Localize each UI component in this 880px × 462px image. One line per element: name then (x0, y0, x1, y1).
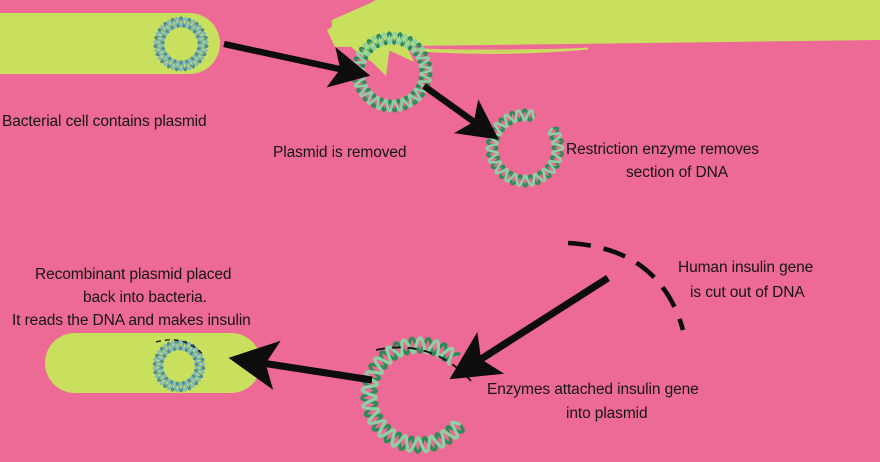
label-bacterial-cell: Bacterial cell contains plasmid (2, 113, 207, 132)
label-plasmid-removed: Plasmid is removed (273, 144, 406, 163)
label-recombinant-line1: Recombinant plasmid placed (35, 266, 231, 285)
arrow-recombinant-to-bacteria (262, 363, 372, 380)
label-restriction-enzyme-line1: Restriction enzyme removes (566, 141, 759, 160)
arrow-plasmid-to-cut-plasmid (424, 86, 477, 124)
arrow-cell-to-plasmid (224, 44, 344, 70)
label-recombinant-line3: It reads the DNA and makes insulin (12, 312, 251, 331)
arrow-gene-into-plasmid (478, 278, 608, 361)
label-enzymes-attached-line2: into plasmid (566, 405, 648, 424)
human-insulin-gene-dashed-arc (568, 243, 683, 330)
cut-plasmid-open-circle (487, 110, 563, 186)
label-enzymes-attached-line1: Enzymes attached insulin gene (487, 381, 699, 400)
label-recombinant-line2: back into bacteria. (83, 289, 207, 308)
label-restriction-enzyme-line2: section of DNA (626, 164, 728, 183)
diagram-svg (0, 0, 880, 462)
recombinant-plasmid-large (362, 338, 472, 452)
label-human-insulin-line1: Human insulin gene (678, 259, 813, 278)
diagram-canvas: Bacterial cell contains plasmid Plasmid … (0, 0, 880, 462)
label-human-insulin-line2: is cut out of DNA (690, 284, 805, 303)
